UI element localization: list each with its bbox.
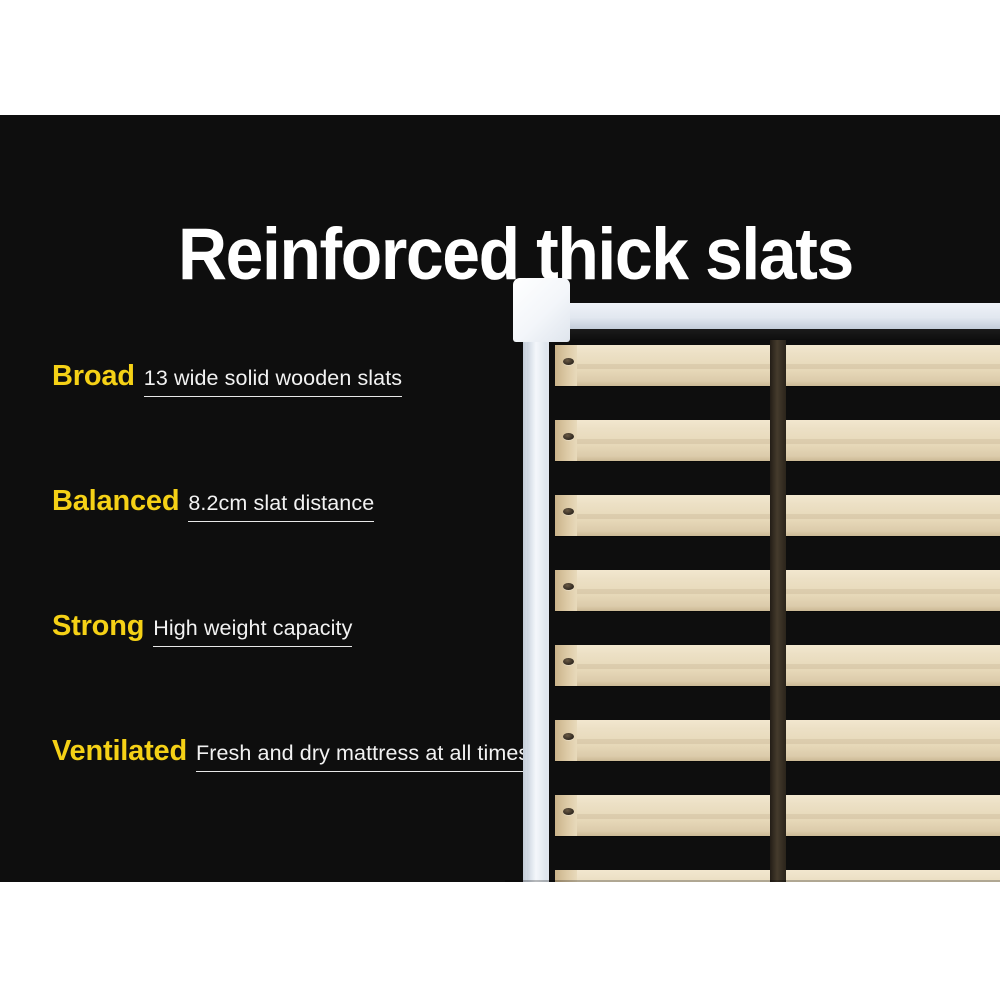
feature-term: Ventilated [52, 735, 187, 768]
slat-end-cap [555, 795, 577, 836]
center-support-beam [770, 340, 786, 882]
slat-screw [563, 508, 574, 515]
image-canvas: Reinforced thick slats Broad 13 wide sol… [0, 0, 1000, 1000]
slat-screw [563, 658, 574, 665]
slat-deck [505, 270, 1000, 882]
slat-screw [563, 808, 574, 815]
feature-description: High weight capacity [153, 616, 352, 647]
product-photo-bed-slats [505, 270, 1000, 882]
slat-end-cap [555, 570, 577, 611]
feature-term: Broad [52, 360, 135, 393]
corner-post [513, 278, 570, 342]
feature-list: Broad 13 wide solid wooden slats Balance… [52, 360, 572, 860]
feature-description: 8.2cm slat distance [188, 491, 374, 522]
feature-term: Strong [52, 610, 144, 643]
slat-screw [563, 733, 574, 740]
slat-end-cap [555, 420, 577, 461]
feature-term: Balanced [52, 485, 179, 518]
slat-screw [563, 583, 574, 590]
photo-bottom-edge [505, 880, 1000, 882]
feature-item-strong: Strong High weight capacity [52, 610, 572, 735]
feature-item-broad: Broad 13 wide solid wooden slats [52, 360, 572, 485]
slat-end-cap [555, 495, 577, 536]
feature-item-ventilated: Ventilated Fresh and dry mattress at all… [52, 735, 572, 860]
top-rail-shadow [549, 329, 1000, 340]
slat-screw [563, 433, 574, 440]
corner-leg [527, 338, 547, 882]
content-panel: Reinforced thick slats Broad 13 wide sol… [0, 115, 1000, 882]
slat-end-cap [555, 720, 577, 761]
feature-item-balanced: Balanced 8.2cm slat distance [52, 485, 572, 610]
slat-screw [563, 358, 574, 365]
feature-description: 13 wide solid wooden slats [144, 366, 402, 397]
slat-end-cap [555, 645, 577, 686]
feature-description: Fresh and dry mattress at all times [196, 741, 529, 772]
top-rail [549, 303, 1000, 329]
slat-end-cap [555, 345, 577, 386]
